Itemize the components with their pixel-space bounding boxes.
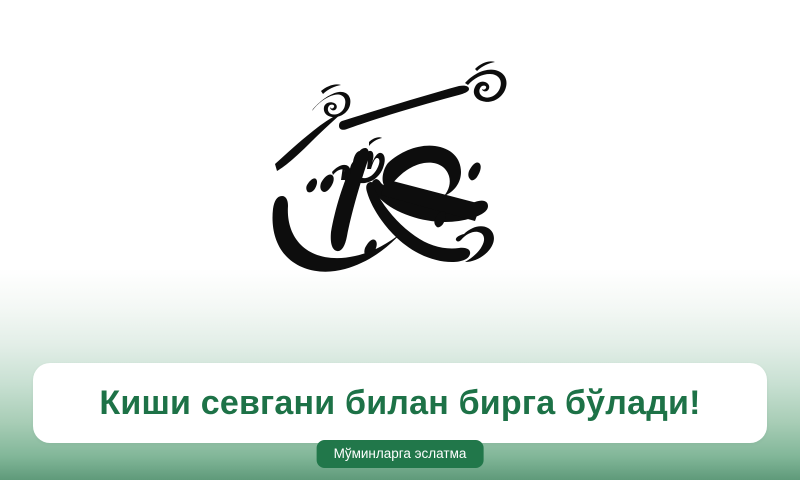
headline-text: Киши севгани билан бирга бўлади! (99, 386, 700, 420)
calligraphy-area (0, 52, 800, 292)
headline-card: Киши севгани билан бирга бўлади! (33, 363, 767, 443)
poster-canvas: Киши севгани билан бирга бўлади! Мўминла… (0, 0, 800, 480)
source-badge-label: Мўминларга эслатма (334, 447, 467, 461)
muhammad-calligraphy-icon (269, 59, 531, 285)
source-badge: Мўминларга эслатма (317, 440, 484, 468)
